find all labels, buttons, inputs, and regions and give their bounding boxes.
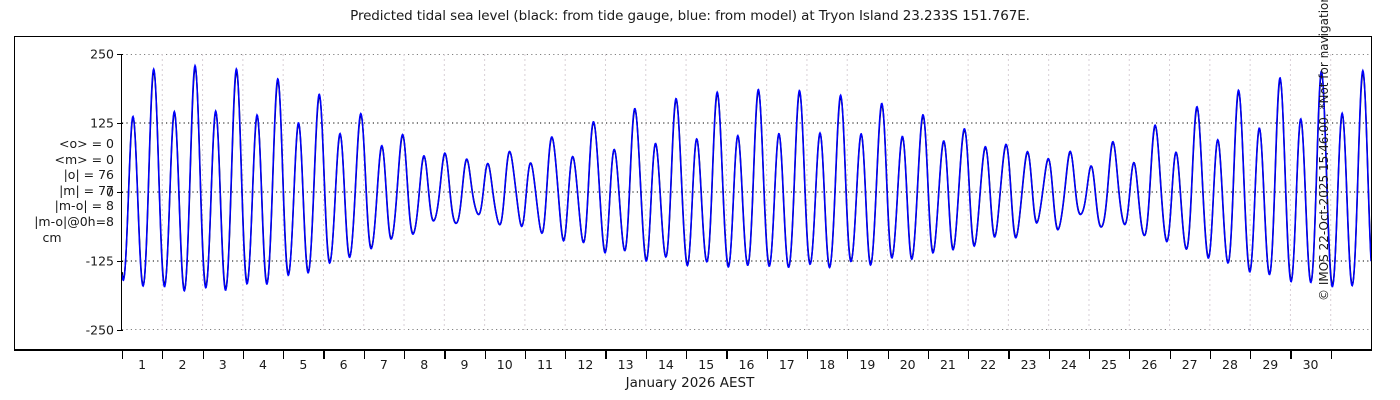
x-tick-label: 2	[178, 357, 186, 372]
x-tick-label: 12	[577, 357, 593, 372]
x-tick-label: 8	[420, 357, 428, 372]
x-tick-label: 16	[739, 357, 755, 372]
x-tick-label: 18	[819, 357, 835, 372]
y-tick-mark	[117, 261, 123, 262]
y-axis-labels: 2501250-125-250	[68, 0, 114, 400]
x-tick-label: 4	[259, 357, 267, 372]
y-tick-label: 125	[68, 116, 114, 131]
y-tick-label: -250	[68, 323, 114, 338]
x-tick-label: 17	[779, 357, 795, 372]
y-tick-mark	[117, 192, 123, 193]
x-tick-label: 26	[1141, 357, 1157, 372]
x-tick-label: 5	[299, 357, 307, 372]
tidal-series-svg	[122, 54, 1371, 330]
x-tick-label: 10	[497, 357, 513, 372]
x-axis-labels: 1234567891011121314151617181920212223242…	[0, 357, 1400, 377]
y-tick-mark	[117, 330, 123, 331]
x-tick-label: 24	[1061, 357, 1077, 372]
y-tick-mark	[117, 123, 123, 124]
x-tick-label: 19	[859, 357, 875, 372]
x-tick-label: 15	[698, 357, 714, 372]
plot-area	[122, 54, 1371, 330]
y-tick-label: -125	[68, 254, 114, 269]
x-tick-label: 22	[980, 357, 996, 372]
y-tick-mark	[117, 54, 123, 55]
page-title: Predicted tidal sea level (black: from t…	[0, 8, 1380, 24]
x-tick-label: 21	[940, 357, 956, 372]
x-tick-label: 20	[900, 357, 916, 372]
tidal-chart-page: Predicted tidal sea level (black: from t…	[0, 0, 1400, 400]
horizontal-gridlines	[122, 54, 1371, 330]
y-tick-label: 0	[68, 185, 114, 200]
x-tick-label: 13	[618, 357, 634, 372]
x-tick-label: 6	[340, 357, 348, 372]
x-tick-label: 7	[380, 357, 388, 372]
x-tick-label: 30	[1303, 357, 1319, 372]
x-tick-label: 25	[1101, 357, 1117, 372]
copyright-notice: © IMOS 22-Oct-2025 15:46:00. *Not for na…	[1317, 0, 1331, 345]
series-line-model	[122, 66, 1371, 291]
y-tick-label: 250	[68, 47, 114, 62]
x-tick-label: 11	[537, 357, 553, 372]
x-tick-label: 28	[1222, 357, 1238, 372]
x-tick-label: 29	[1262, 357, 1278, 372]
vertical-gridlines	[162, 54, 1330, 330]
x-tick-label: 14	[658, 357, 674, 372]
x-tick-label: 9	[460, 357, 468, 372]
x-tick-label: 3	[219, 357, 227, 372]
x-tick-label: 23	[1021, 357, 1037, 372]
x-tick-label: 27	[1182, 357, 1198, 372]
x-axis-title: January 2026 AEST	[0, 375, 1380, 391]
x-tick-label: 1	[138, 357, 146, 372]
